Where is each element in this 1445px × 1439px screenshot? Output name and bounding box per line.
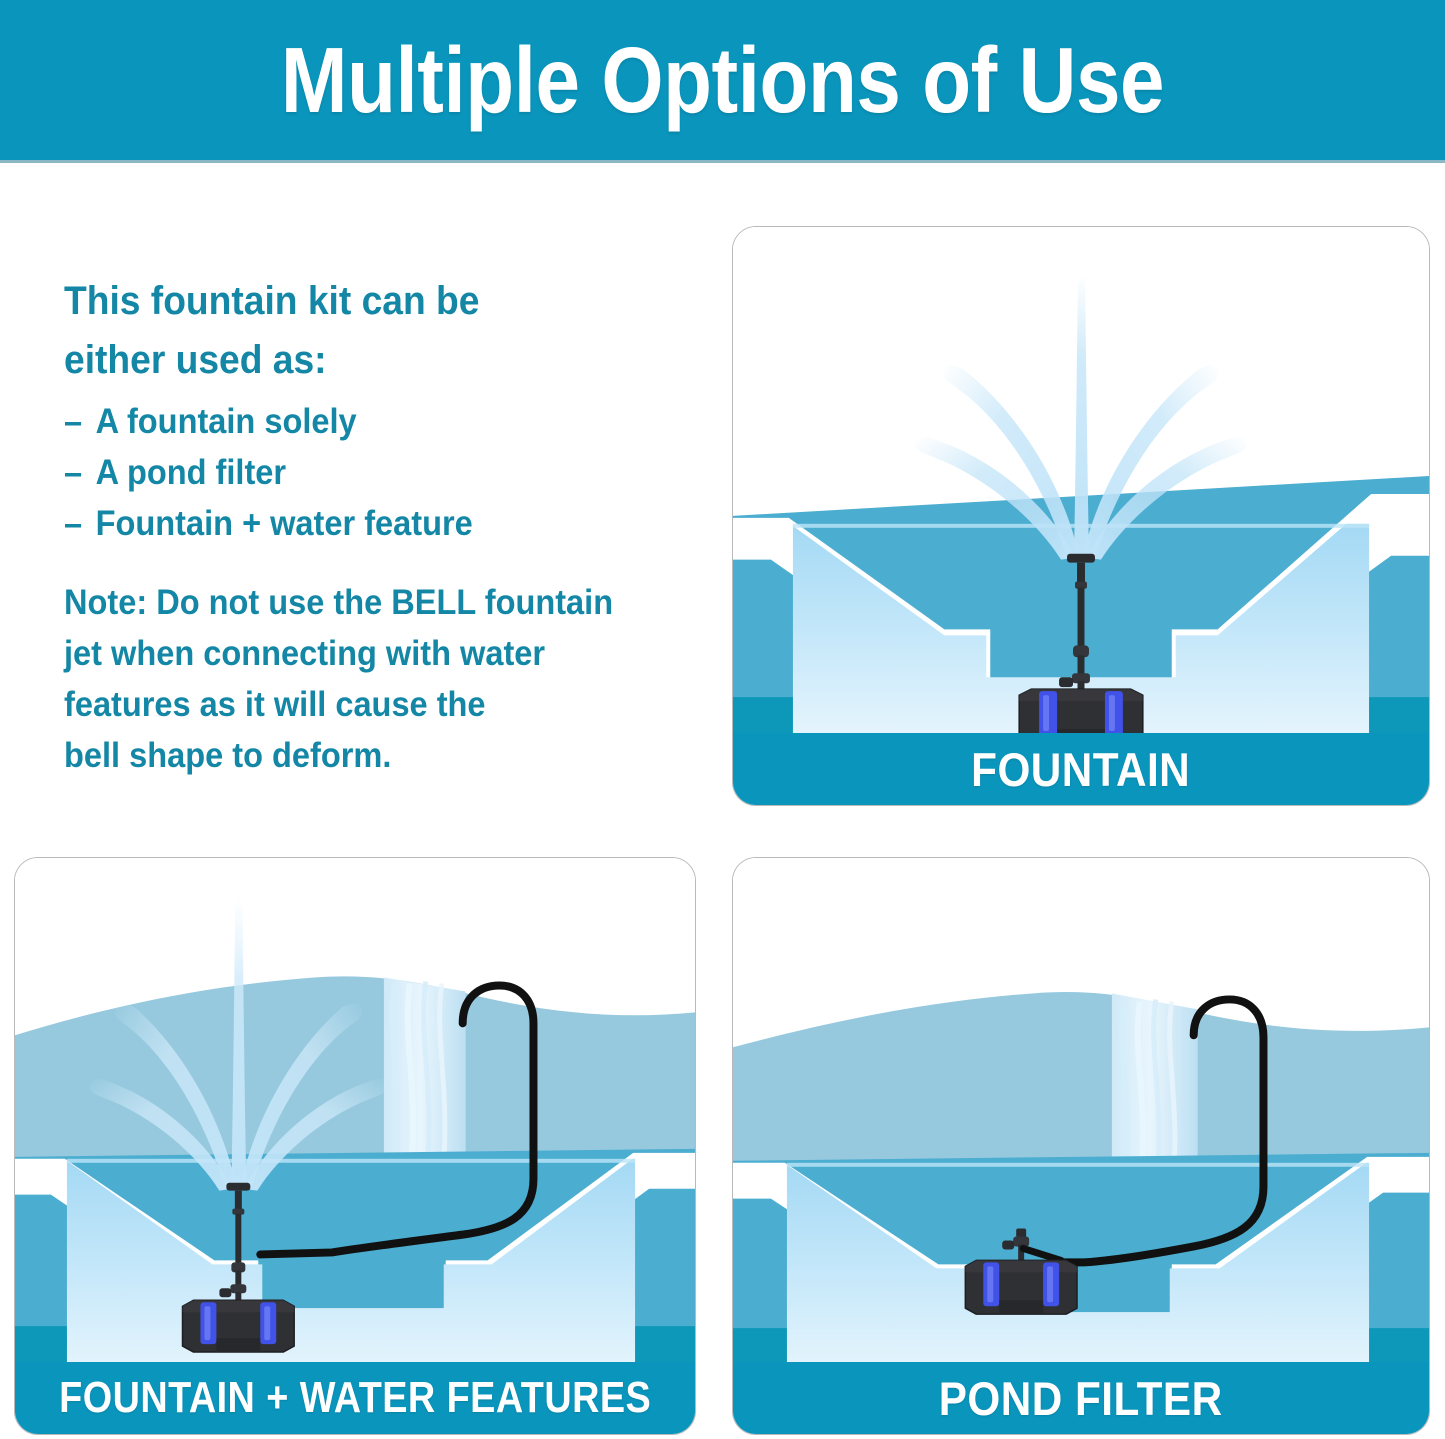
intro-line-2: either used as: [64,331,659,390]
scene-fountain [733,227,1429,733]
list-item-label: A fountain solely [96,396,357,447]
card-fountain-water-features[interactable]: FOUNTAIN + WATER FEATURES [14,857,696,1435]
list-item-label: A pond filter [96,447,286,498]
list-item-label: Fountain + water feature [96,498,473,549]
list-item: – Fountain + water feature [64,498,659,549]
card-caption: FOUNTAIN + WATER FEATURES [59,1376,651,1420]
list-item: – A pond filter [64,447,659,498]
pond-filter-illustration [733,858,1429,1362]
page-title: Multiple Options of Use [281,34,1164,127]
scene-fountain-water-features [15,858,695,1362]
fountain-illustration [733,227,1429,733]
infographic-page: Multiple Options of Use This fountain ki… [0,0,1445,1439]
intro-line-1: This fountain kit can be [64,272,659,331]
caption-band-fountain: FOUNTAIN [733,733,1429,805]
note-line-1: Note: Do not use the BELL fountain [64,577,659,628]
caption-band-pond-filter: POND FILTER [733,1362,1429,1434]
dash-icon: – [64,498,96,549]
note-line-2: jet when connecting with water [64,628,659,679]
pump-unit [1019,689,1143,733]
card-caption: FOUNTAIN [971,746,1190,793]
header-band: Multiple Options of Use [0,0,1445,160]
pump-unit [965,1260,1077,1314]
description-panel: This fountain kit can be either used as:… [64,272,704,781]
card-pond-filter[interactable]: POND FILTER [732,857,1430,1435]
note-text: Note: Do not use the BELL fountain jet w… [64,577,704,781]
caption-band-fountain-water-features: FOUNTAIN + WATER FEATURES [15,1362,695,1434]
scene-pond-filter [733,858,1429,1362]
intro-text: This fountain kit can be either used as: [64,272,704,390]
fountain-water-features-illustration [15,858,695,1362]
note-line-4: bell shape to deform. [64,730,659,781]
usage-list: – A fountain solely – A pond filter – Fo… [64,396,704,549]
note-line-3: features as it will cause the [64,679,659,730]
dash-icon: – [64,396,96,447]
header-divider [0,160,1445,163]
pump-unit [183,1300,295,1352]
list-item: – A fountain solely [64,396,659,447]
card-caption: POND FILTER [939,1375,1223,1422]
dash-icon: – [64,447,96,498]
card-fountain[interactable]: FOUNTAIN [732,226,1430,806]
